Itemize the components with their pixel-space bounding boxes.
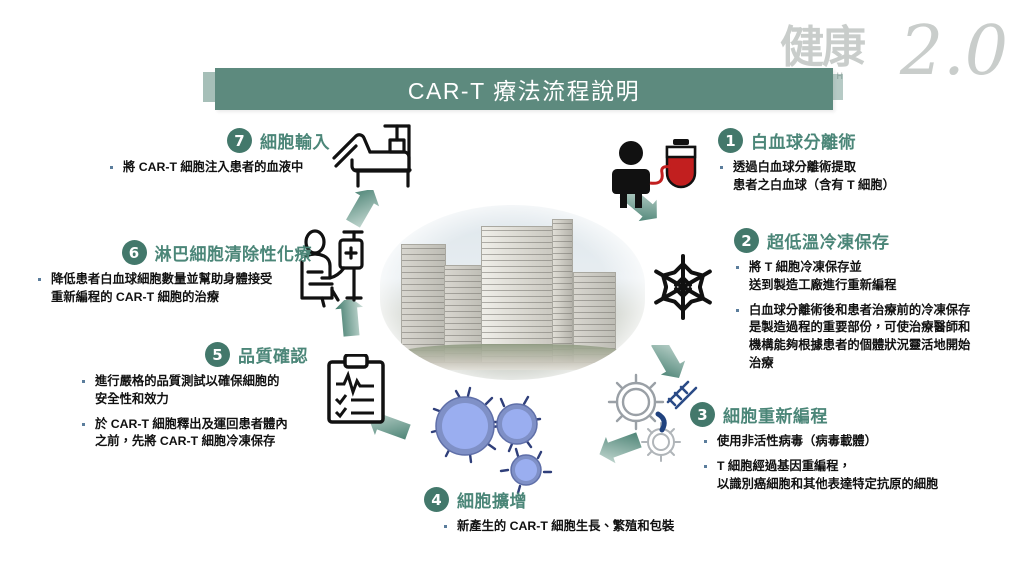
logo-version-text: 2.0 bbox=[900, 18, 1008, 86]
step-5-header: 5 品質確認 bbox=[56, 342, 308, 367]
step-1-bullet-1: 透過白血球分離術提取 患者之白血球（含有 T 細胞） bbox=[718, 159, 1018, 195]
step-7-header: 7 細胞輸入 bbox=[100, 128, 330, 153]
step-1-bullets: 透過白血球分離術提取 患者之白血球（含有 T 細胞） bbox=[718, 159, 1018, 195]
step-5-bullet-2: 於 CAR-T 細胞釋出及運回患者體內 之前，先將 CAR-T 細胞冷凍保存 bbox=[80, 416, 308, 452]
blood-bag-patient-icon bbox=[603, 135, 707, 210]
page-title: CAR-T 療法流程說明 bbox=[408, 72, 640, 106]
step-6-badge: 6 bbox=[122, 240, 147, 265]
step-3-bullet-1: 使用非活性病毒（病毒載體） bbox=[702, 433, 1024, 451]
step-2-bullet-2: 白血球分離術後和患者治療前的冷凍保存 是製造過程的重要部份，可使治療醫師和 機構… bbox=[734, 302, 1024, 373]
step-5-badge: 5 bbox=[205, 342, 230, 367]
step-7: 7 細胞輸入 將 CAR-T 細胞注入患者的血液中 bbox=[100, 128, 330, 193]
step-3-badge: 3 bbox=[690, 402, 715, 427]
step-5-title: 品質確認 bbox=[238, 342, 308, 367]
step-1-badge: 1 bbox=[718, 128, 743, 153]
step-7-bullet-1: 將 CAR-T 細胞注入患者的血液中 bbox=[108, 159, 330, 177]
step-7-badge: 7 bbox=[227, 128, 252, 153]
step-2-bullet-1: 將 T 細胞冷凍保存並 送到製造工廠進行重新編程 bbox=[734, 259, 1024, 295]
step-1-header: 1 白血球分離術 bbox=[718, 128, 1018, 153]
step-1-title: 白血球分離術 bbox=[751, 128, 856, 153]
infographic-canvas: 健康 HEALTH 2.0 CAR-T 療法流程說明 bbox=[0, 0, 1024, 576]
step-6: 6 淋巴細胞清除性化療 降低患者白血球細胞數量並幫助身體接受 重新編程的 CAR… bbox=[36, 240, 312, 323]
step-6-bullet-1: 降低患者白血球細胞數量並幫助身體接受 重新編程的 CAR-T 細胞的治療 bbox=[36, 271, 312, 307]
infusion-bed-icon bbox=[330, 122, 426, 198]
step-2-title: 超低溫冷凍保存 bbox=[767, 228, 890, 253]
title-banner: CAR-T 療法流程說明 bbox=[215, 68, 833, 110]
step-3-bullets: 使用非活性病毒（病毒載體） T 細胞經過基因重編程， 以識別癌細胞和其他表達特定… bbox=[702, 433, 1024, 493]
step-4-header: 4 細胞擴增 bbox=[424, 487, 754, 512]
snowflake-icon bbox=[648, 252, 718, 322]
clipboard-checklist-icon bbox=[324, 354, 388, 426]
step-2-badge: 2 bbox=[734, 228, 759, 253]
step-4: 4 細胞擴增 新產生的 CAR-T 細胞生長、繁殖和包裝 bbox=[424, 487, 754, 552]
step-3-title: 細胞重新編程 bbox=[723, 402, 828, 427]
step-5: 5 品質確認 進行嚴格的品質測試以確保細胞的 安全性和效力 於 CAR-T 細胞… bbox=[56, 342, 308, 467]
step-2-bullets: 將 T 細胞冷凍保存並 送到製造工廠進行重新編程 白血球分離術後和患者治療前的冷… bbox=[734, 259, 1024, 373]
step-7-title: 細胞輸入 bbox=[260, 128, 330, 153]
step-1: 1 白血球分離術 透過白血球分離術提取 患者之白血球（含有 T 細胞） bbox=[718, 128, 1018, 211]
step-4-badge: 4 bbox=[424, 487, 449, 512]
step-4-bullets: 新產生的 CAR-T 細胞生長、繁殖和包裝 bbox=[442, 518, 754, 536]
logo-chinese-text: 健康 bbox=[780, 26, 864, 70]
step-6-title: 淋巴細胞清除性化療 bbox=[155, 240, 313, 265]
step-7-bullets: 將 CAR-T 細胞注入患者的血液中 bbox=[108, 159, 330, 177]
step-3-header: 3 細胞重新編程 bbox=[690, 402, 1024, 427]
step-6-header: 6 淋巴細胞清除性化療 bbox=[36, 240, 312, 265]
step-4-title: 細胞擴增 bbox=[457, 487, 527, 512]
step-6-bullets: 降低患者白血球細胞數量並幫助身體接受 重新編程的 CAR-T 細胞的治療 bbox=[36, 271, 312, 307]
step-5-bullets: 進行嚴格的品質測試以確保細胞的 安全性和效力 於 CAR-T 細胞釋出及運回患者… bbox=[80, 373, 308, 451]
hospital-photo bbox=[380, 205, 645, 380]
virus-dna-icon bbox=[606, 372, 702, 468]
step-2: 2 超低溫冷凍保存 將 T 細胞冷凍保存並 送到製造工廠進行重新編程 白血球分離… bbox=[734, 228, 1024, 389]
step-4-bullet-1: 新產生的 CAR-T 細胞生長、繁殖和包裝 bbox=[442, 518, 754, 536]
car-t-cells-icon bbox=[420, 382, 580, 494]
step-2-header: 2 超低溫冷凍保存 bbox=[734, 228, 1024, 253]
step-5-bullet-1: 進行嚴格的品質測試以確保細胞的 安全性和效力 bbox=[80, 373, 308, 409]
